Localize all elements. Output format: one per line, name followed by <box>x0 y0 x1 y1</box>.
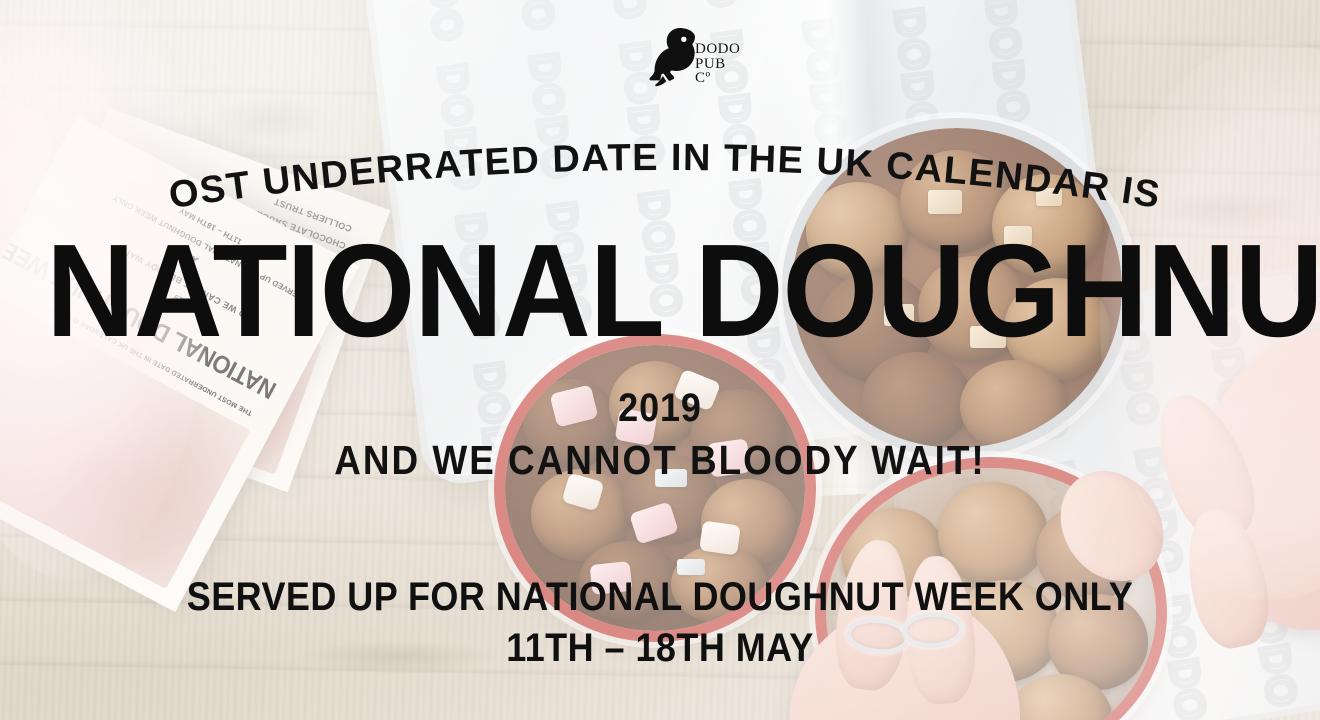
brand-name-line1: DODO <box>695 42 740 57</box>
brand-logo-text: DODO PUB Cº <box>695 42 740 86</box>
dodo-bird-icon <box>649 26 701 100</box>
subheadline: AND WE CANNOT BLOODY WAIT! <box>66 437 1254 484</box>
year-label: 2019 <box>66 386 1254 431</box>
text-overlay: DODO PUB Cº THE MOST UNDERRATED DATE IN … <box>0 0 1320 720</box>
page-title: NATIONAL DOUGHNUT WEEK <box>46 228 1274 355</box>
brand-name-line2: PUB <box>695 57 740 72</box>
footer-block: SERVED UP FOR NATIONAL DOUGHNUT WEEK ONL… <box>0 575 1320 671</box>
brand-logo: DODO PUB Cº <box>649 24 769 106</box>
footer-line-1: SERVED UP FOR NATIONAL DOUGHNUT WEEK ONL… <box>66 575 1254 620</box>
arc-headline-text: THE MOST UNDERRATED DATE IN THE UK CALEN… <box>0 128 1164 217</box>
footer-line-2: 11TH – 18TH MAY <box>66 626 1254 671</box>
promo-poster: DODODODODODODODODODODODODODODODODODODODO… <box>0 0 1320 720</box>
arc-headline: THE MOST UNDERRATED DATE IN THE UK CALEN… <box>0 128 1320 218</box>
brand-name-line3: Cº <box>695 71 740 86</box>
